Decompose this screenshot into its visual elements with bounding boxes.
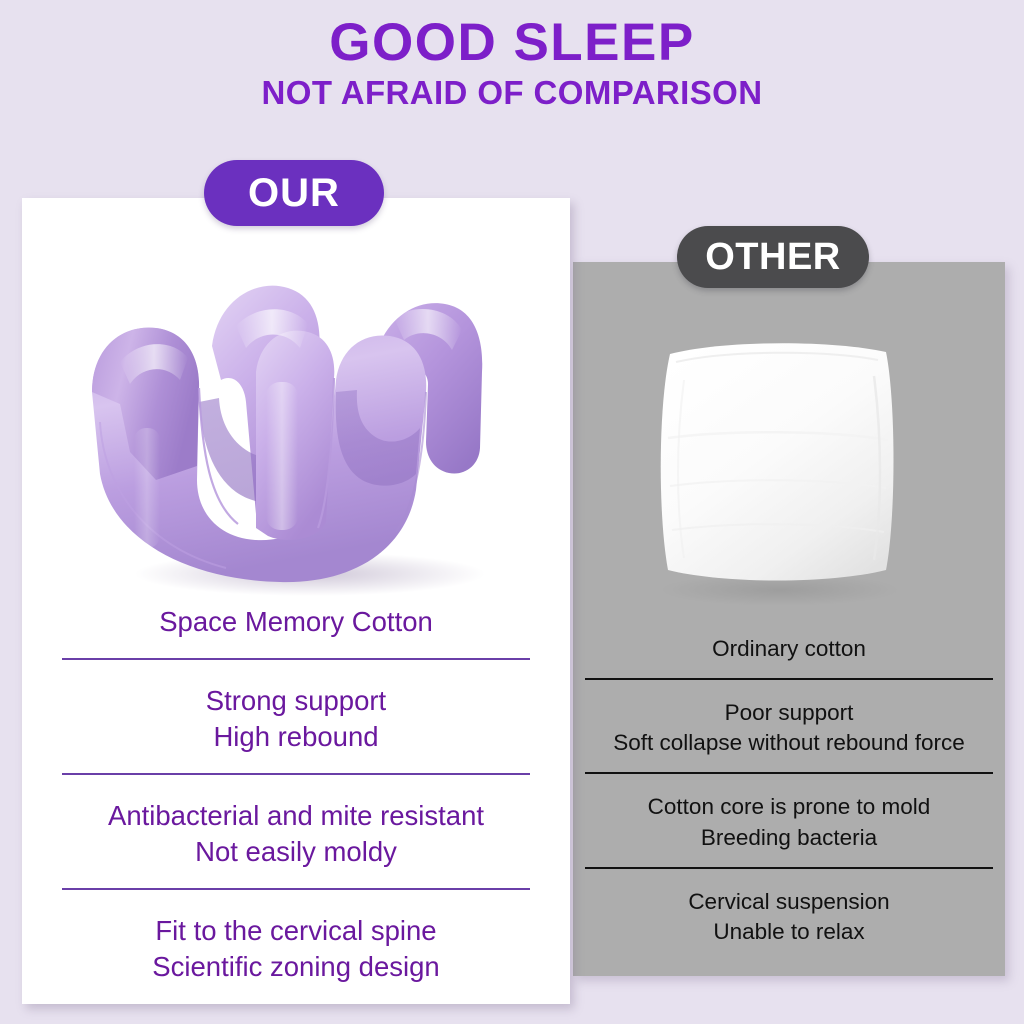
white-square-pillow-icon	[628, 318, 928, 608]
other-feature-item: Cotton core is prone to mold Breeding ba…	[573, 792, 1005, 852]
our-feature-item: Antibacterial and mite resistant Not eas…	[22, 798, 570, 871]
page-title: GOOD SLEEP	[0, 16, 1024, 70]
other-product-image	[628, 318, 928, 608]
other-feature-list: Ordinary cotton Poor support Soft collap…	[573, 634, 1005, 947]
other-badge-label: OTHER	[705, 236, 841, 279]
comparison-infographic: GOOD SLEEP NOT AFRAID OF COMPARISON	[0, 0, 1024, 1024]
feature-text: Not easily moldy	[34, 834, 558, 871]
feature-text: Fit to the cervical spine	[34, 913, 558, 950]
our-badge: OUR	[204, 160, 384, 226]
our-product-image	[60, 252, 530, 600]
feature-text: Unable to relax	[581, 917, 997, 947]
feature-text: Space Memory Cotton	[34, 604, 558, 641]
feature-text: Breeding bacteria	[581, 823, 997, 853]
our-badge-label: OUR	[248, 171, 340, 216]
other-feature-item: Ordinary cotton	[573, 634, 1005, 664]
page-subtitle: NOT AFRAID OF COMPARISON	[0, 76, 1024, 111]
page-heading: GOOD SLEEP NOT AFRAID OF COMPARISON	[0, 16, 1024, 111]
feature-text: Cotton core is prone to mold	[581, 792, 997, 822]
feature-text: Antibacterial and mite resistant	[34, 798, 558, 835]
other-badge: OTHER	[677, 226, 869, 288]
feature-text: Soft collapse without rebound force	[581, 728, 997, 758]
feature-text: Cervical suspension	[581, 887, 997, 917]
feature-text: High rebound	[34, 719, 558, 756]
other-feature-item: Poor support Soft collapse without rebou…	[573, 698, 1005, 758]
feature-text: Strong support	[34, 683, 558, 720]
our-feature-item: Space Memory Cotton	[22, 604, 570, 641]
other-feature-item: Cervical suspension Unable to relax	[573, 887, 1005, 947]
feature-text: Poor support	[581, 698, 997, 728]
our-feature-item: Fit to the cervical spine Scientific zon…	[22, 913, 570, 986]
feature-text: Ordinary cotton	[581, 634, 997, 664]
purple-cervical-pillow-icon	[60, 252, 530, 600]
our-feature-item: Strong support High rebound	[22, 683, 570, 756]
feature-text: Scientific zoning design	[34, 949, 558, 986]
our-feature-list: Space Memory Cotton Strong support High …	[22, 604, 570, 986]
